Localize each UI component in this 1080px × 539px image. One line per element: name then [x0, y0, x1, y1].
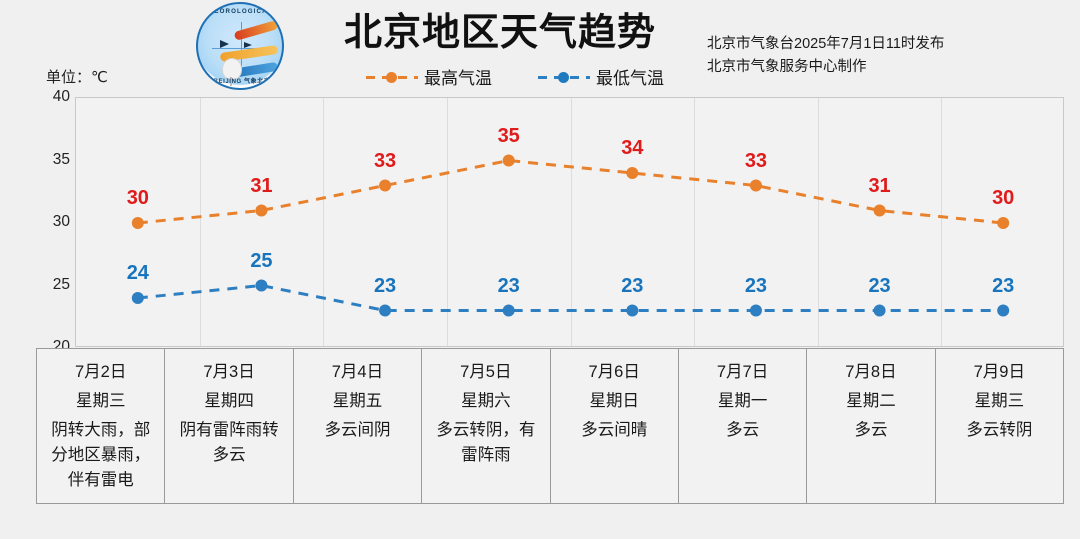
- page-title: 北京地区天气趋势: [300, 8, 700, 58]
- legend-dot-high: [386, 72, 397, 83]
- forecast-column[interactable]: 7月5日星期六多云转阴，有雷阵雨: [422, 349, 550, 503]
- issue-time-text: 北京市气象台2025年7月1日11时发布: [707, 33, 944, 56]
- forecast-weekday: 星期五: [300, 386, 415, 416]
- data-point-high[interactable]: [626, 167, 638, 179]
- legend-dot-low: [558, 72, 569, 83]
- forecast-date: 7月6日: [557, 358, 672, 386]
- data-label-high: 31: [868, 175, 890, 198]
- data-point-high[interactable]: [997, 217, 1009, 229]
- logo-bird-icon-2: [244, 42, 252, 48]
- forecast-column[interactable]: 7月2日星期三阴转大雨，部分地区暴雨，伴有雷电: [37, 349, 165, 503]
- forecast-column[interactable]: 7月6日星期日多云间晴: [551, 349, 679, 503]
- beijing-meteorological-service-logo-icon: METEOROLOGICAL SERVICE BEIJING 气象北京: [188, 2, 292, 90]
- logo-bird-icon: [220, 40, 229, 48]
- data-label-high: 33: [374, 150, 396, 173]
- forecast-description: 阴有雷阵雨转多云: [171, 418, 286, 468]
- data-point-high[interactable]: [874, 205, 886, 217]
- data-label-low: 24: [127, 262, 149, 285]
- data-point-low[interactable]: [132, 292, 144, 304]
- forecast-weekday: 星期四: [171, 386, 286, 416]
- forecast-description: 多云: [813, 418, 928, 443]
- data-label-low: 23: [745, 275, 767, 298]
- forecast-column[interactable]: 7月3日星期四阴有雷阵雨转多云: [165, 349, 293, 503]
- y-axis-tick-30: 30: [36, 213, 70, 231]
- data-label-high: 30: [992, 187, 1014, 210]
- forecast-weekday: 星期三: [942, 386, 1057, 416]
- data-label-high: 31: [250, 175, 272, 198]
- forecast-description: 多云: [685, 418, 800, 443]
- temperature-chart: 2025303540 30313335343331302425232323232…: [36, 89, 1064, 347]
- producer-text: 北京市气象服务中心制作: [707, 56, 944, 79]
- data-label-high: 34: [621, 137, 643, 160]
- forecast-column[interactable]: 7月8日星期二多云: [807, 349, 935, 503]
- logo-disc: METEOROLOGICAL SERVICE BEIJING 气象北京: [196, 2, 284, 90]
- forecast-description: 多云转阴，有雷阵雨: [428, 418, 543, 468]
- data-point-high[interactable]: [379, 180, 391, 192]
- chart-legend: 最高气温 最低气温: [340, 64, 690, 89]
- data-point-high[interactable]: [255, 205, 267, 217]
- data-label-high: 35: [498, 125, 520, 148]
- chart-plot-area: 30313335343331302425232323232323: [75, 97, 1064, 347]
- chart-series-lines: [76, 98, 1065, 348]
- data-point-low[interactable]: [626, 305, 638, 317]
- data-point-low[interactable]: [997, 305, 1009, 317]
- data-label-low: 23: [621, 275, 643, 298]
- legend-label-low-temp: 最低气温: [596, 64, 664, 89]
- weather-trend-infographic: METEOROLOGICAL SERVICE BEIJING 气象北京 北京地区…: [0, 0, 1080, 539]
- logo-ring-text-top: METEOROLOGICAL SERVICE: [198, 8, 284, 15]
- forecast-column[interactable]: 7月7日星期一多云: [679, 349, 807, 503]
- data-label-high: 33: [745, 150, 767, 173]
- forecast-date: 7月3日: [171, 358, 286, 386]
- logo-ring-text-bottom: BEIJING 气象北京: [198, 76, 284, 85]
- data-point-high[interactable]: [750, 180, 762, 192]
- forecast-table: 7月2日星期三阴转大雨，部分地区暴雨，伴有雷电7月3日星期四阴有雷阵雨转多云7月…: [36, 348, 1064, 504]
- data-label-low: 23: [498, 275, 520, 298]
- forecast-date: 7月9日: [942, 358, 1057, 386]
- data-point-low[interactable]: [750, 305, 762, 317]
- forecast-weekday: 星期一: [685, 386, 800, 416]
- y-axis-tick-35: 35: [36, 151, 70, 169]
- forecast-date: 7月2日: [43, 358, 158, 386]
- data-label-low: 25: [250, 250, 272, 273]
- header: METEOROLOGICAL SERVICE BEIJING 气象北京 北京地区…: [0, 0, 1080, 92]
- data-point-low[interactable]: [255, 280, 267, 292]
- legend-item-low-temp: 最低气温: [538, 64, 664, 89]
- data-point-low[interactable]: [874, 305, 886, 317]
- forecast-weekday: 星期三: [43, 386, 158, 416]
- data-label-low: 23: [992, 275, 1014, 298]
- data-label-high: 30: [127, 187, 149, 210]
- forecast-date: 7月7日: [685, 358, 800, 386]
- source-attribution: 北京市气象台2025年7月1日11时发布 北京市气象服务中心制作: [707, 33, 944, 79]
- forecast-date: 7月8日: [813, 358, 928, 386]
- data-label-low: 23: [374, 275, 396, 298]
- forecast-weekday: 星期二: [813, 386, 928, 416]
- y-axis-tick-40: 40: [36, 88, 70, 106]
- data-label-low: 23: [868, 275, 890, 298]
- forecast-description: 多云间晴: [557, 418, 672, 443]
- forecast-description: 多云转阴: [942, 418, 1057, 443]
- forecast-description: 多云间阴: [300, 418, 415, 443]
- forecast-date: 7月4日: [300, 358, 415, 386]
- y-axis-tick-25: 25: [36, 276, 70, 294]
- legend-marker-high-temp-icon: [366, 70, 418, 84]
- y-axis-unit-label: 单位：℃: [46, 66, 108, 87]
- forecast-description: 阴转大雨，部分地区暴雨，伴有雷电: [43, 418, 158, 493]
- forecast-weekday: 星期六: [428, 386, 543, 416]
- forecast-column[interactable]: 7月9日星期三多云转阴: [936, 349, 1063, 503]
- forecast-weekday: 星期日: [557, 386, 672, 416]
- data-point-high[interactable]: [503, 155, 515, 167]
- forecast-date: 7月5日: [428, 358, 543, 386]
- data-point-low[interactable]: [379, 305, 391, 317]
- legend-label-high-temp: 最高气温: [424, 64, 492, 89]
- legend-item-high-temp: 最高气温: [366, 64, 492, 89]
- legend-marker-low-temp-icon: [538, 70, 590, 84]
- data-point-high[interactable]: [132, 217, 144, 229]
- data-point-low[interactable]: [503, 305, 515, 317]
- forecast-column[interactable]: 7月4日星期五多云间阴: [294, 349, 422, 503]
